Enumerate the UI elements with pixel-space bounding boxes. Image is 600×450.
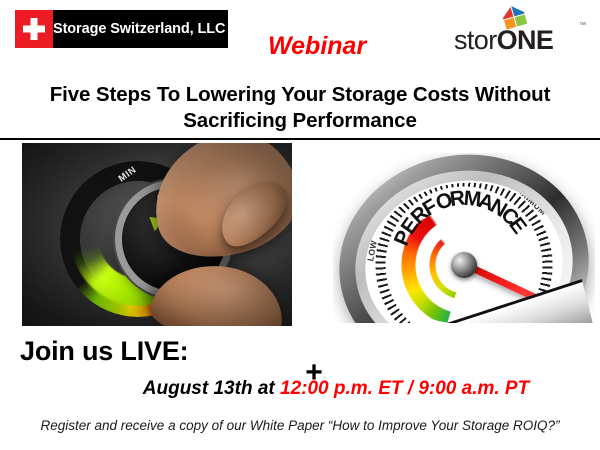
- webinar-date: August 13th at: [143, 378, 280, 399]
- performance-gauge-image: LOW MODERATE GOOD MAXIMUM P E R F O R M: [333, 153, 595, 323]
- storone-word-bold: ONE: [497, 25, 554, 55]
- page-title: Five Steps To Lowering Your Storage Cost…: [0, 82, 600, 134]
- webinar-time: 12:00 p.m. ET / 9:00 a.m. PT: [280, 378, 529, 399]
- webinar-promo-slide: Storage Switzerland, LLC Webinar storONE…: [0, 0, 600, 450]
- join-live-heading: Join us LIVE:: [20, 336, 188, 367]
- concept-imagery-row: MIN MAX COSTS + LOW: [0, 143, 600, 328]
- trademark-symbol: ™: [579, 22, 586, 29]
- swiss-cross-icon: [15, 10, 53, 48]
- webinar-datetime: August 13th at 12:00 p.m. ET / 9:00 a.m.…: [0, 378, 600, 400]
- webinar-label: Webinar: [268, 32, 366, 61]
- storage-switzerland-logo-text: Storage Switzerland, LLC: [53, 10, 229, 48]
- registration-note: Register and receive a copy of our White…: [0, 418, 600, 433]
- storage-switzerland-logo: Storage Switzerland, LLC: [15, 10, 228, 48]
- title-line-1: Five Steps To Lowering Your Storage Cost…: [0, 82, 600, 108]
- storone-wordmark: storONE: [454, 26, 586, 54]
- storone-logo: storONE ™: [454, 4, 586, 54]
- gauge-zone-good: GOOD: [455, 167, 483, 178]
- storone-word-light: stor: [454, 25, 497, 55]
- gauge-bezel: LOW MODERATE GOOD MAXIMUM P E R F O R M: [333, 153, 595, 323]
- costs-knob-image: MIN MAX COSTS: [22, 143, 292, 326]
- title-line-2: Sacrificing Performance: [0, 108, 600, 134]
- photo-vignette: [22, 143, 292, 326]
- header-divider: [0, 138, 600, 140]
